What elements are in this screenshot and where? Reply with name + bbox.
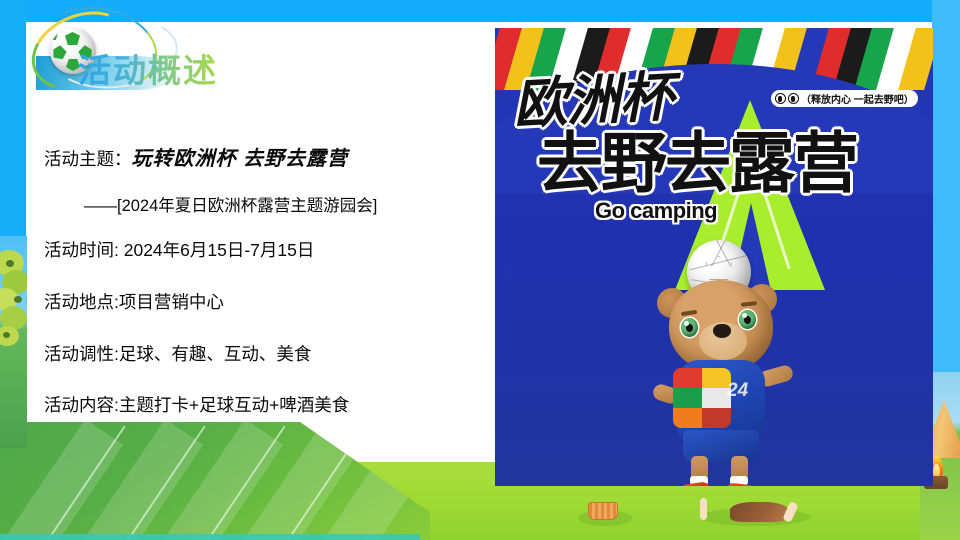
activity-tone-line: 活动调性:足球、有趣、互动、美食 [44, 343, 464, 367]
page-title: 活动概述 [78, 44, 218, 92]
tagline-ball-icon [788, 93, 799, 104]
activity-theme-value: 玩转欧洲杯 去野去露营 [132, 148, 349, 170]
activity-location-line: 活动地点:项目营销中心 [44, 291, 464, 315]
poster-image: 欧洲杯 去野去露营 Go camping （释放内心 一起去野吧） [495, 28, 933, 486]
activity-content-line: 活动内容:主题打卡+足球互动+啤酒美食 [44, 394, 464, 418]
activity-theme-label: 活动主题： [44, 149, 132, 169]
mascot-albaert: 24 [615, 240, 825, 480]
teal-edge-line [0, 534, 420, 540]
mascot-eye-glint [742, 313, 747, 318]
mascot-eye-right [739, 310, 756, 329]
tree-leaf-detail [6, 260, 14, 267]
poster-title-english: Go camping [595, 198, 717, 224]
jersey-patch-cell [702, 408, 731, 428]
mascot-jersey-patchwork [673, 368, 731, 428]
pitch-dark-wedge [0, 422, 430, 540]
left-tree-decoration [0, 236, 27, 448]
tree-leaf-detail [3, 332, 10, 338]
mascot-eye-glint [684, 321, 689, 326]
section-header: 活动概述 [26, 22, 446, 106]
mascot-jersey-number: 24 [727, 380, 748, 402]
picnic-basket-icon [588, 502, 618, 520]
camp-prop-leg [700, 498, 707, 520]
mascot-nose [713, 324, 731, 338]
poster-tagline: （释放内心 一起去野吧） [771, 90, 918, 107]
ball-panel [50, 43, 68, 61]
activity-time-line: 活动时间: 2024年6月15日-7月15日 [44, 239, 464, 263]
tree-leaf-detail [14, 296, 22, 303]
tagline-ball-icon [775, 93, 786, 104]
mascot-eye-left [681, 318, 698, 337]
poster-title-line2: 去野去露营 [537, 110, 857, 206]
jersey-patch-cell [673, 388, 702, 408]
jersey-patch-cell [673, 408, 702, 428]
activity-theme-line: 活动主题：玩转欧洲杯 去野去露营 [44, 146, 464, 173]
overview-text-block: 活动主题：玩转欧洲杯 去野去露营 ——[2024年夏日欧洲杯露营主题游园会] 活… [44, 146, 464, 418]
slide-root: 活动概述 活动主题：玩转欧洲杯 去野去露营 ——[2024年夏日欧洲杯露营主题游… [0, 0, 960, 540]
camp-mat-icon [730, 502, 788, 522]
jersey-patch-cell [673, 368, 702, 388]
tagline-text: （释放内心 一起去野吧） [801, 91, 914, 106]
mascot-boot-right [726, 482, 757, 486]
activity-subtitle-line: ——[2024年夏日欧洲杯露营主题游园会] [84, 195, 464, 217]
